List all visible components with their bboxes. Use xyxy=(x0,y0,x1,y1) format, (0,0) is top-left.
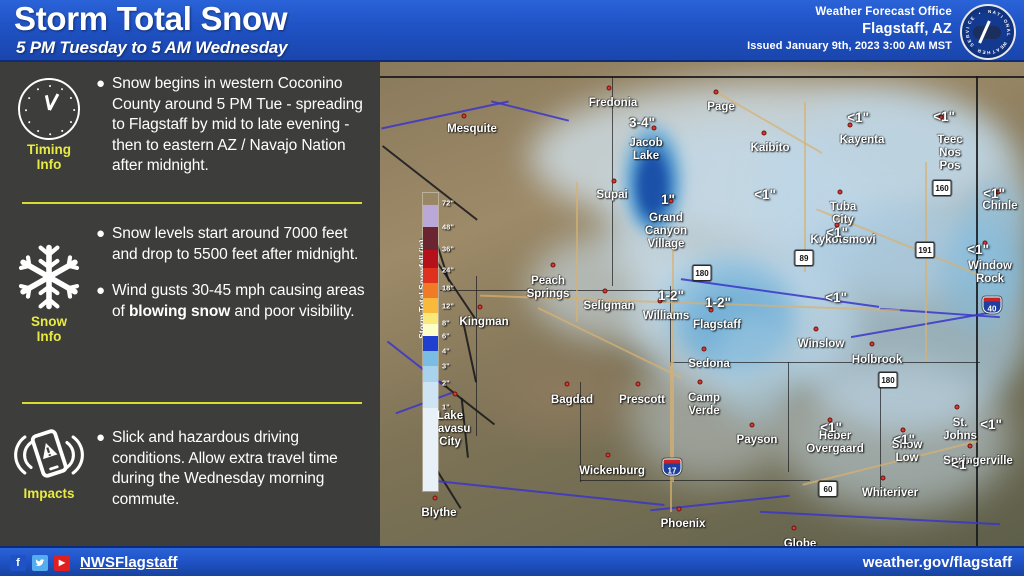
colorbar-segment xyxy=(423,324,438,336)
colorbar-tick-label: 24" xyxy=(442,266,454,275)
colorbar-tick-label: 18" xyxy=(442,284,454,293)
highway-shield-180: 180 xyxy=(879,372,898,388)
highway-shield-17: 17 xyxy=(663,459,682,476)
colorbar-tick-label: 72" xyxy=(442,198,454,207)
colorbar-segment xyxy=(423,268,438,283)
highway xyxy=(672,242,674,482)
colorbar-tick-label: 3" xyxy=(442,362,450,371)
colorbar-tick-label: 12" xyxy=(442,302,454,311)
snowfall-amount-label: <1" xyxy=(983,186,1005,201)
city-label: Prescott xyxy=(619,394,665,407)
youtube-icon[interactable]: ▶ xyxy=(54,555,70,571)
city-marker xyxy=(702,347,707,352)
weather-graphic: Storm Total Snow 5 PM Tuesday to 5 AM We… xyxy=(0,0,1024,576)
city-label: Blythe xyxy=(421,507,456,520)
office-info: Weather Forecast Office Flagstaff, AZ Is… xyxy=(747,5,952,54)
city-marker xyxy=(607,86,612,91)
snowfall-amount-label: 1-2" xyxy=(658,288,684,303)
city-label: CampVerde xyxy=(688,392,720,418)
city-marker xyxy=(792,526,797,531)
city-marker xyxy=(814,327,819,332)
colorbar-tick-label: 36" xyxy=(442,245,454,254)
city-label: Williams xyxy=(643,310,690,323)
city-marker xyxy=(478,305,483,310)
colorbar-segment xyxy=(423,298,438,313)
city-label: WindowRock xyxy=(968,260,1012,286)
info-sidebar: Timing Info ● Snow begins in western Coc… xyxy=(0,62,380,546)
highway-shield-180: 180 xyxy=(693,265,712,281)
colorbar-tick-label: 1" xyxy=(442,402,450,411)
colorbar-tick-label: 6" xyxy=(442,332,450,341)
city-label: Whiteriver xyxy=(862,487,918,500)
bullet-dot-icon: ● xyxy=(96,224,112,265)
twitter-icon[interactable] xyxy=(32,555,48,571)
shield-number: 17 xyxy=(668,467,677,476)
city-marker xyxy=(677,507,682,512)
page-title: Storm Total Snow xyxy=(14,2,287,37)
bullet-text: Snow begins in western Coconino County a… xyxy=(112,74,374,177)
divider-1 xyxy=(22,202,362,204)
colorbar-segment xyxy=(423,227,438,249)
colorbar-segment xyxy=(423,366,438,382)
city-label: Chinle xyxy=(982,200,1017,213)
impacts-body: ● Slick and hazardous driving conditions… xyxy=(96,428,374,520)
snowfall-amount-label: <1" xyxy=(826,225,848,240)
colorbar-segment xyxy=(423,351,438,366)
bullet-item: ● Wind gusts 30-45 mph causing areas of … xyxy=(96,281,374,322)
colorbar-tick-label: 48" xyxy=(442,222,454,231)
city-label: Bagdad xyxy=(551,394,593,407)
colorbar-segment xyxy=(423,408,438,491)
county-border xyxy=(476,276,477,436)
highway xyxy=(804,102,806,272)
colorbar-segment xyxy=(423,382,438,407)
colorbar-segment xyxy=(423,283,438,298)
impacts-icon-group: Impacts xyxy=(8,426,90,502)
city-label: Page xyxy=(707,101,735,114)
snowfall-amount-label: 3-4" xyxy=(629,115,655,130)
bullet-dot-icon: ● xyxy=(96,281,112,322)
city-label: PeachSprings xyxy=(527,275,570,301)
city-marker xyxy=(612,179,617,184)
footer-bar: f ▶ NWSFlagstaff weather.gov/flagstaff xyxy=(0,546,1024,576)
colorbar-segment xyxy=(423,336,438,351)
city-label: Kingman xyxy=(459,316,508,329)
city-label: TeecNosPos xyxy=(937,134,962,173)
bullet-item: ● Snow levels start around 7000 feet and… xyxy=(96,224,374,265)
shield-top-band xyxy=(664,460,681,464)
city-label: TubaCity xyxy=(830,201,857,227)
bullet-dot-icon: ● xyxy=(96,74,112,177)
snowfall-amount-label: 1" xyxy=(661,192,675,207)
city-marker xyxy=(551,263,556,268)
city-label: Kayenta xyxy=(840,134,885,147)
city-label: Mesquite xyxy=(447,123,497,136)
snowfall-amount-label: <1" xyxy=(951,457,973,472)
shield-top-band xyxy=(984,298,1001,302)
snowfall-amount-label: <1" xyxy=(967,242,989,257)
bold-phrase: blowing snow xyxy=(129,303,230,320)
snowflake-icon xyxy=(14,242,84,312)
snowfall-map[interactable]: MesquiteFredoniaPageJacobLakeKaibitoKaye… xyxy=(380,62,1024,546)
city-label: Payson xyxy=(737,434,778,447)
state-border xyxy=(976,76,978,546)
city-marker xyxy=(603,289,608,294)
city-marker xyxy=(606,453,611,458)
snow-body: ● Snow levels start around 7000 feet and… xyxy=(96,224,374,332)
timing-label: Timing Info xyxy=(8,143,90,173)
city-marker xyxy=(881,476,886,481)
impacts-label: Impacts xyxy=(8,487,90,502)
snowfall-amount-label: <1" xyxy=(820,420,842,435)
issued-timestamp: Issued January 9th, 2023 3:00 AM MST xyxy=(747,39,952,54)
highway xyxy=(925,162,927,362)
nws-logo: NATIONAL WEATHER SERVICE • xyxy=(960,4,1016,60)
office-line2: Flagstaff, AZ xyxy=(747,20,952,39)
bullet-item: ● Slick and hazardous driving conditions… xyxy=(96,428,374,510)
city-label: Wickenburg xyxy=(579,465,645,478)
nws-logo-inner xyxy=(969,13,1007,51)
city-marker xyxy=(955,405,960,410)
snowfall-amount-label: <1" xyxy=(847,110,869,125)
snowfall-amount-label: <1" xyxy=(754,187,776,202)
city-label: Phoenix xyxy=(661,518,706,531)
highway xyxy=(576,182,578,322)
colorbar-segment xyxy=(423,313,438,324)
city-marker xyxy=(838,190,843,195)
snow-label: Snow Info xyxy=(8,315,90,345)
snowfall-amount-label: <1" xyxy=(893,432,915,447)
city-label: GrandCanyonVillage xyxy=(645,212,687,251)
website-url[interactable]: weather.gov/flagstaff xyxy=(863,554,1012,571)
city-marker xyxy=(968,444,973,449)
page-subtitle: 5 PM Tuesday to 5 AM Wednesday xyxy=(16,38,287,58)
colorbar-scale xyxy=(422,192,439,492)
city-marker xyxy=(870,342,875,347)
highway-shield-160: 160 xyxy=(933,180,952,196)
colorbar-tick-label: 8" xyxy=(442,318,450,327)
city-marker xyxy=(698,380,703,385)
bullet-text: Wind gusts 30-45 mph causing areas of bl… xyxy=(112,281,374,322)
timing-icon-group: Timing Info xyxy=(8,78,90,173)
city-marker xyxy=(714,90,719,95)
city-label: Holbrook xyxy=(852,354,902,367)
city-label: Flagstaff xyxy=(693,319,741,332)
divider-2 xyxy=(22,402,362,404)
colorbar-segment xyxy=(423,205,438,227)
city-label: Supai xyxy=(596,189,627,202)
bullet-dot-icon: ● xyxy=(96,428,112,510)
highway-shield-191: 191 xyxy=(916,242,935,258)
county-border xyxy=(880,380,881,490)
highway-shield-40: 40 xyxy=(983,297,1002,314)
city-marker xyxy=(636,382,641,387)
city-marker xyxy=(462,114,467,119)
facebook-icon[interactable]: f xyxy=(10,555,26,571)
city-label: Kaibito xyxy=(751,142,790,155)
snowfall-amount-label: <1" xyxy=(980,417,1002,432)
city-label: Fredonia xyxy=(589,97,638,110)
highway-shield-89: 89 xyxy=(795,250,814,266)
bullet-item: ● Snow begins in western Coconino County… xyxy=(96,74,374,177)
snowfall-amount-label: 1-2" xyxy=(705,295,731,310)
social-handle[interactable]: NWSFlagstaff xyxy=(80,554,178,571)
snowfall-amount-label: <1" xyxy=(933,109,955,124)
snowfall-amount-label: <1" xyxy=(825,290,847,305)
city-label: Globe xyxy=(784,538,817,546)
highway xyxy=(670,362,672,512)
colorbar: Storm Total Snowfall (in) 72"48"36"24"18… xyxy=(398,192,454,492)
office-line1: Weather Forecast Office xyxy=(747,5,952,20)
colorbar-tick-label: 2" xyxy=(442,378,450,387)
city-marker xyxy=(433,496,438,501)
bullet-text: Snow levels start around 7000 feet and d… xyxy=(112,224,374,265)
city-label: Winslow xyxy=(798,338,845,351)
colorbar-segment xyxy=(423,250,438,268)
city-label: Seligman xyxy=(583,300,634,313)
city-label: JacobLake xyxy=(629,137,662,163)
county-border xyxy=(788,362,789,472)
highway-shield-60: 60 xyxy=(819,481,838,497)
bullet-text: Slick and hazardous driving conditions. … xyxy=(112,428,374,510)
colorbar-tick-label: 4" xyxy=(442,347,450,356)
snow-icon-group: Snow Info xyxy=(8,242,90,345)
city-marker xyxy=(565,382,570,387)
shield-number: 40 xyxy=(988,305,997,314)
county-border xyxy=(580,480,810,481)
state-border xyxy=(380,76,1024,78)
city-marker xyxy=(750,423,755,428)
city-label: St.Johns xyxy=(943,417,977,443)
header-bar: Storm Total Snow 5 PM Tuesday to 5 AM We… xyxy=(0,0,1024,62)
phone-alert-icon xyxy=(14,426,84,484)
clock-tick xyxy=(49,133,51,135)
clock-icon xyxy=(18,78,80,140)
timing-body: ● Snow begins in western Coconino County… xyxy=(96,74,374,187)
city-label: Sedona xyxy=(688,358,730,371)
city-marker xyxy=(762,131,767,136)
